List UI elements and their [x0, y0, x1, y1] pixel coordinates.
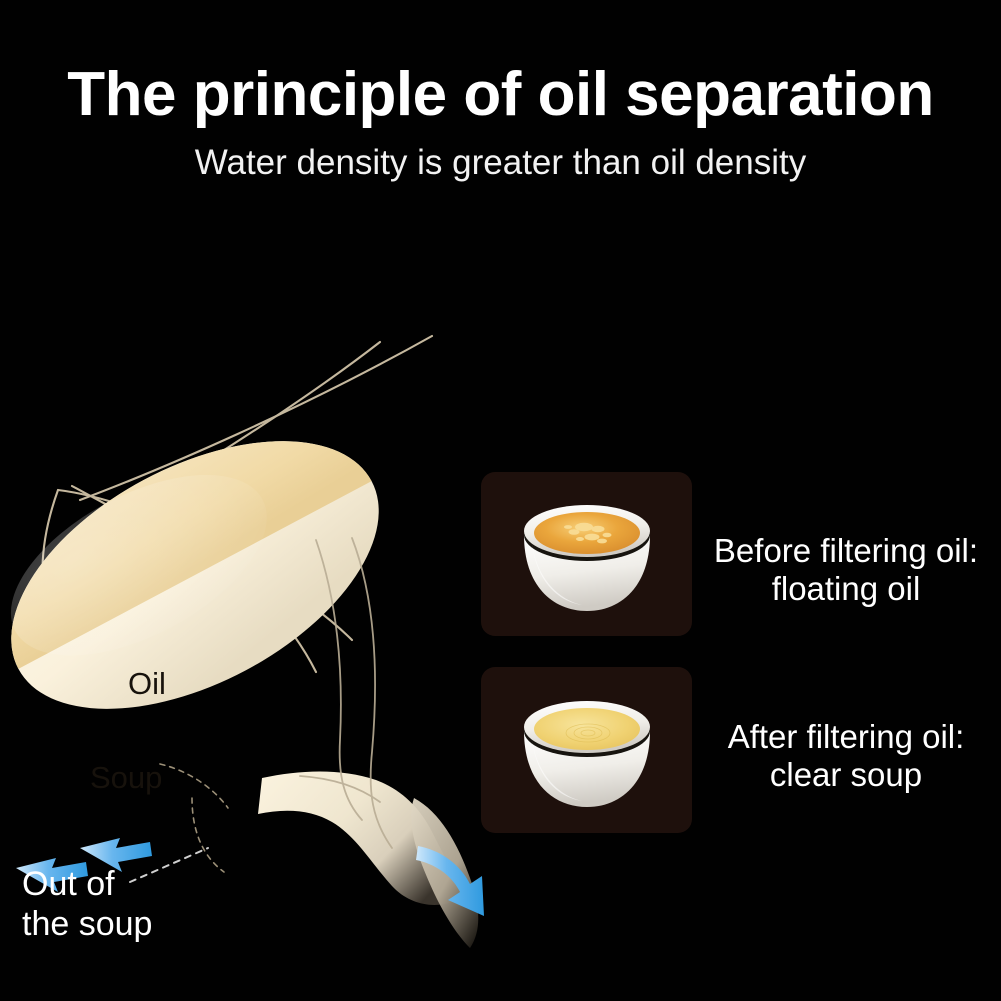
oil-separating-ladle-illustration	[0, 300, 520, 960]
photo-panel-before-filtering[interactable]	[481, 472, 692, 636]
ladle-label-soup: Soup	[90, 762, 162, 793]
ladle-inner-contour	[160, 764, 228, 872]
photo-panel-after-filtering[interactable]	[481, 667, 692, 833]
bowl-photo-floating-oil	[512, 489, 662, 619]
bowl-photo-clear-soup	[512, 685, 662, 815]
caption-before-filtering: Before filtering oil: floating oil	[700, 532, 992, 607]
page-subtitle: Water density is greater than oil densit…	[0, 144, 1001, 183]
caption-after-filtering: After filtering oil: clear soup	[700, 718, 992, 793]
ladle-label-oil: Oil	[128, 668, 166, 699]
infographic-canvas: The principle of oil separation Water de…	[0, 0, 1001, 1001]
ladle-label-out-of-the-soup: Out of the soup	[22, 864, 152, 944]
page-title: The principle of oil separation	[0, 62, 1001, 127]
